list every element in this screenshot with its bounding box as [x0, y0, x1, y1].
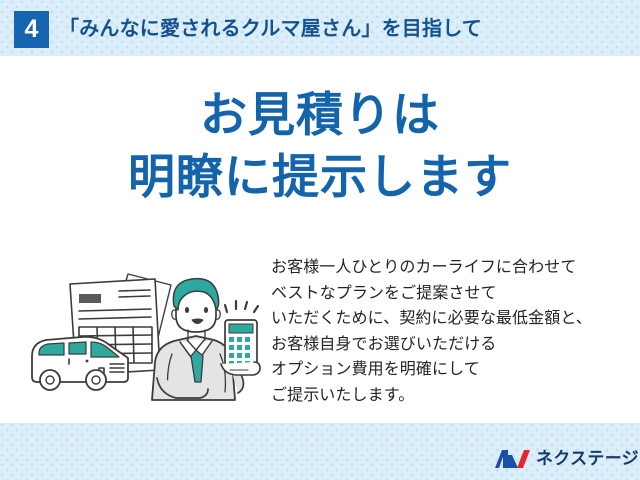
body-copy: お客様一人ひとりのカーライフに合わせて ベストなプランをご提案させて いただくた… — [271, 255, 631, 409]
headline-line-1: お見積りは — [0, 84, 640, 146]
salesman-quotation-illustration — [24, 258, 274, 423]
body-copy-line-2: ベストなプランをご提案させて — [271, 281, 631, 307]
header-title: 「みんなに愛されるクルマ屋さん」を目指して — [59, 13, 482, 45]
brand-name: ネクステージ — [536, 447, 639, 471]
body-copy-line-1: お客様一人ひとりのカーライフに合わせて — [271, 255, 631, 281]
headline: お見積りは 明瞭に提示します — [0, 84, 640, 208]
body-copy-line-6: ご提示いたします。 — [271, 383, 631, 409]
body-copy-line-5: オプション費用を明確にして — [271, 357, 631, 383]
headline-line-2: 明瞭に提示します — [0, 146, 640, 208]
body-copy-line-3: いただくために、契約に必要な最低金額と、 — [271, 306, 631, 332]
promo-slide: 4 「みんなに愛されるクルマ屋さん」を目指して お見積りは 明瞭に提示します お… — [0, 0, 640, 480]
calculator — [221, 320, 260, 375]
body-copy-line-4: お客様自身でお選びいただける — [271, 332, 631, 358]
sparkle-icon — [225, 301, 258, 312]
brand-logo: ネクステージ — [494, 445, 626, 473]
step-number-badge: 4 — [14, 11, 49, 48]
nextage-n-logo-icon — [494, 447, 530, 471]
